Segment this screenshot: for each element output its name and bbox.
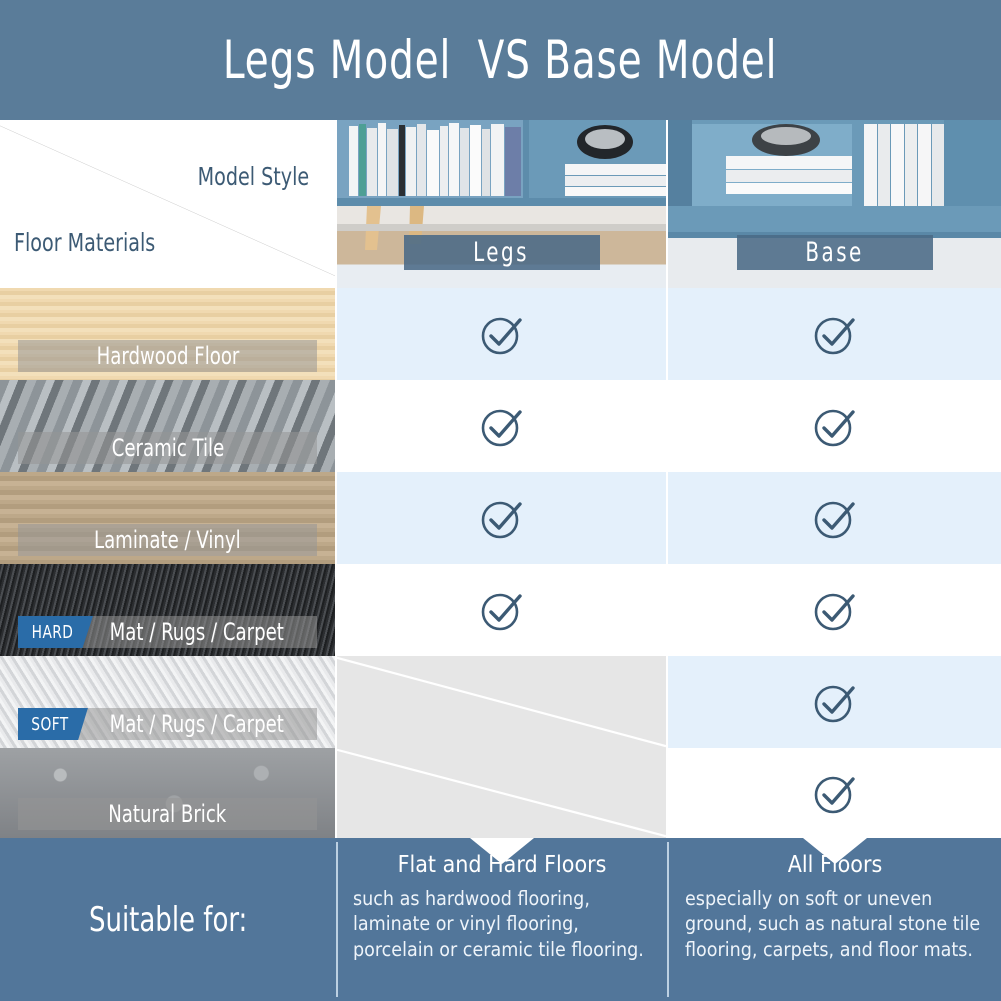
legs-footer-cell: Flat and Hard Floors such as hardwood fl… [337,838,667,1001]
base-cell-soft-carpet [668,656,1001,748]
suitable-for-footer: Suitable for: Flat and Hard Floors such … [0,838,1001,1001]
legs-footer-heading: Flat and Hard Floors [353,852,651,878]
base-cell-ceramic [668,380,1001,472]
material-label: Hardwood Floor [18,340,317,372]
legs-footer-body: such as hardwood flooring, laminate or v… [353,886,651,962]
check-circle-icon [809,676,861,728]
material-row-laminate: Laminate / Vinyl [0,472,335,564]
legs-cell-hard-carpet [337,564,666,656]
check-circle-icon [476,308,528,360]
legs-photo-header: Legs [337,120,666,288]
corner-label-floor-materials: Floor Materials [14,228,155,257]
material-label: SOFT Mat / Rugs / Carpet [18,708,317,740]
strikethrough-icon [337,656,666,748]
corner-header-cell: Model Style Floor Materials [0,120,335,288]
suitable-for-label: Suitable for: [89,900,247,940]
material-column: Model Style Floor Materials Hardwood Flo… [0,120,335,838]
base-footer-heading: All Floors [685,852,985,878]
title-bar: Legs Model VS Base Model [0,0,1001,120]
legs-cell-ceramic [337,380,666,472]
material-row-hardwood: Hardwood Floor [0,288,335,380]
base-footer-cell: All Floors especially on soft or uneven … [669,838,1001,1001]
check-circle-icon [809,308,861,360]
base-cell-hard-carpet [668,564,1001,656]
strikethrough-icon [337,748,666,838]
comparison-infographic: Legs Model VS Base Model Model Style Flo… [0,0,1001,1001]
page-title: Legs Model VS Base Model [223,30,777,91]
material-label: Natural Brick [18,798,317,830]
badge-soft: SOFT [18,708,88,740]
base-cell-laminate [668,472,1001,564]
base-cell-brick [668,748,1001,838]
check-circle-icon [809,584,861,636]
material-label: Ceramic Tile [18,432,317,464]
base-caption-bar: Base [737,235,933,270]
material-label: Laminate / Vinyl [18,524,317,556]
legs-cell-laminate [337,472,666,564]
check-circle-icon [809,400,861,452]
material-row-ceramic: Ceramic Tile [0,380,335,472]
check-circle-icon [476,492,528,544]
base-photo-header: Base [668,120,1001,288]
corner-label-model-style: Model Style [197,162,309,191]
base-column: Base [668,120,1001,838]
legs-cell-soft-carpet-unavailable [337,656,666,748]
diagonal-divider-icon [0,120,335,288]
legs-cell-hardwood [337,288,666,380]
material-row-hard-carpet: HARD Mat / Rugs / Carpet [0,564,335,656]
badge-hard: HARD [18,616,93,648]
material-label: HARD Mat / Rugs / Carpet [18,616,317,648]
material-row-soft-carpet: SOFT Mat / Rugs / Carpet [0,656,335,748]
material-row-brick: Natural Brick [0,748,335,838]
check-circle-icon [809,767,861,819]
base-footer-body: especially on soft or uneven ground, suc… [685,886,985,962]
suitable-for-label-cell: Suitable for: [0,838,336,1001]
legs-column: Legs [337,120,666,838]
legs-caption-bar: Legs [404,235,600,270]
comparison-table: Model Style Floor Materials Hardwood Flo… [0,120,1001,838]
base-cell-hardwood [668,288,1001,380]
legs-cell-brick-unavailable [337,748,666,838]
check-circle-icon [809,492,861,544]
check-circle-icon [476,400,528,452]
check-circle-icon [476,584,528,636]
